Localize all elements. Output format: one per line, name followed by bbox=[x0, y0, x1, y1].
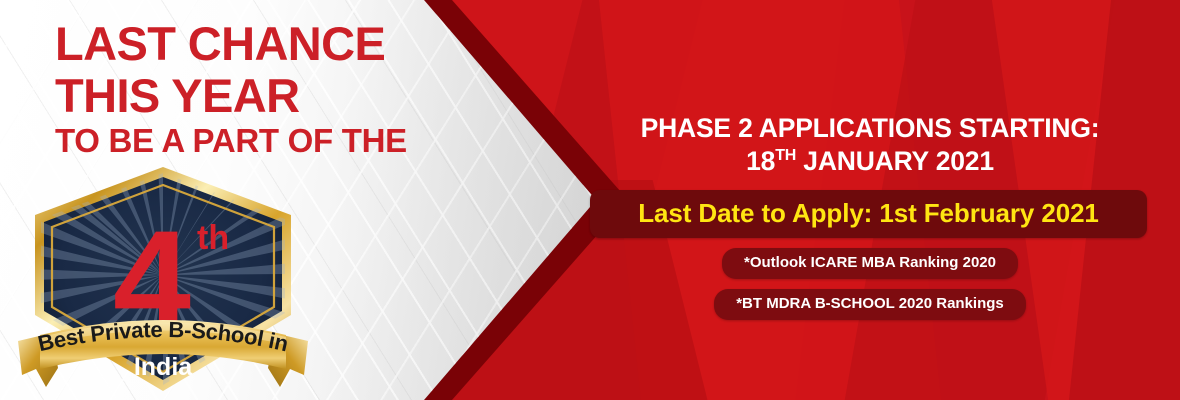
phase-headline-line-2: 18TH JANUARY 2021 bbox=[590, 145, 1150, 177]
apply-deadline-text: Last Date to Apply: 1st February 2021 bbox=[600, 199, 1137, 227]
phase-date-month-year: JANUARY 2021 bbox=[796, 146, 994, 176]
promo-banner: LAST CHANCE THIS YEAR TO BE A PART OF TH… bbox=[0, 0, 1180, 400]
badge-rank-suffix: th bbox=[197, 219, 229, 257]
right-content-block: PHASE 2 APPLICATIONS STARTING: 18TH JANU… bbox=[590, 112, 1150, 320]
footnote-outlook-text: *Outlook ICARE MBA Ranking 2020 bbox=[744, 253, 996, 273]
footnote-pill-bt-mdra[interactable]: *BT MDRA B-SCHOOL 2020 Rankings bbox=[714, 289, 1026, 320]
phase-date-ordinal: TH bbox=[775, 147, 796, 164]
headline-subhead: TO BE A PART OF THE bbox=[55, 124, 475, 158]
left-headline-block: LAST CHANCE THIS YEAR TO BE A PART OF TH… bbox=[55, 20, 475, 158]
badge-country-label: India bbox=[134, 353, 193, 381]
phase-headline-line-1: PHASE 2 APPLICATIONS STARTING: bbox=[590, 112, 1150, 144]
headline-line-1: LAST CHANCE bbox=[55, 20, 475, 67]
footnote-pill-outlook[interactable]: *Outlook ICARE MBA Ranking 2020 bbox=[722, 248, 1018, 279]
phase-date-day: 18 bbox=[746, 146, 775, 176]
footnote-bt-mdra-text: *BT MDRA B-SCHOOL 2020 Rankings bbox=[736, 294, 1004, 314]
award-badge: ★ 4 th India Best Private B-School in bbox=[18, 163, 308, 395]
apply-deadline-pill[interactable]: Last Date to Apply: 1st February 2021 bbox=[590, 190, 1147, 238]
headline-line-2: THIS YEAR bbox=[55, 72, 475, 119]
